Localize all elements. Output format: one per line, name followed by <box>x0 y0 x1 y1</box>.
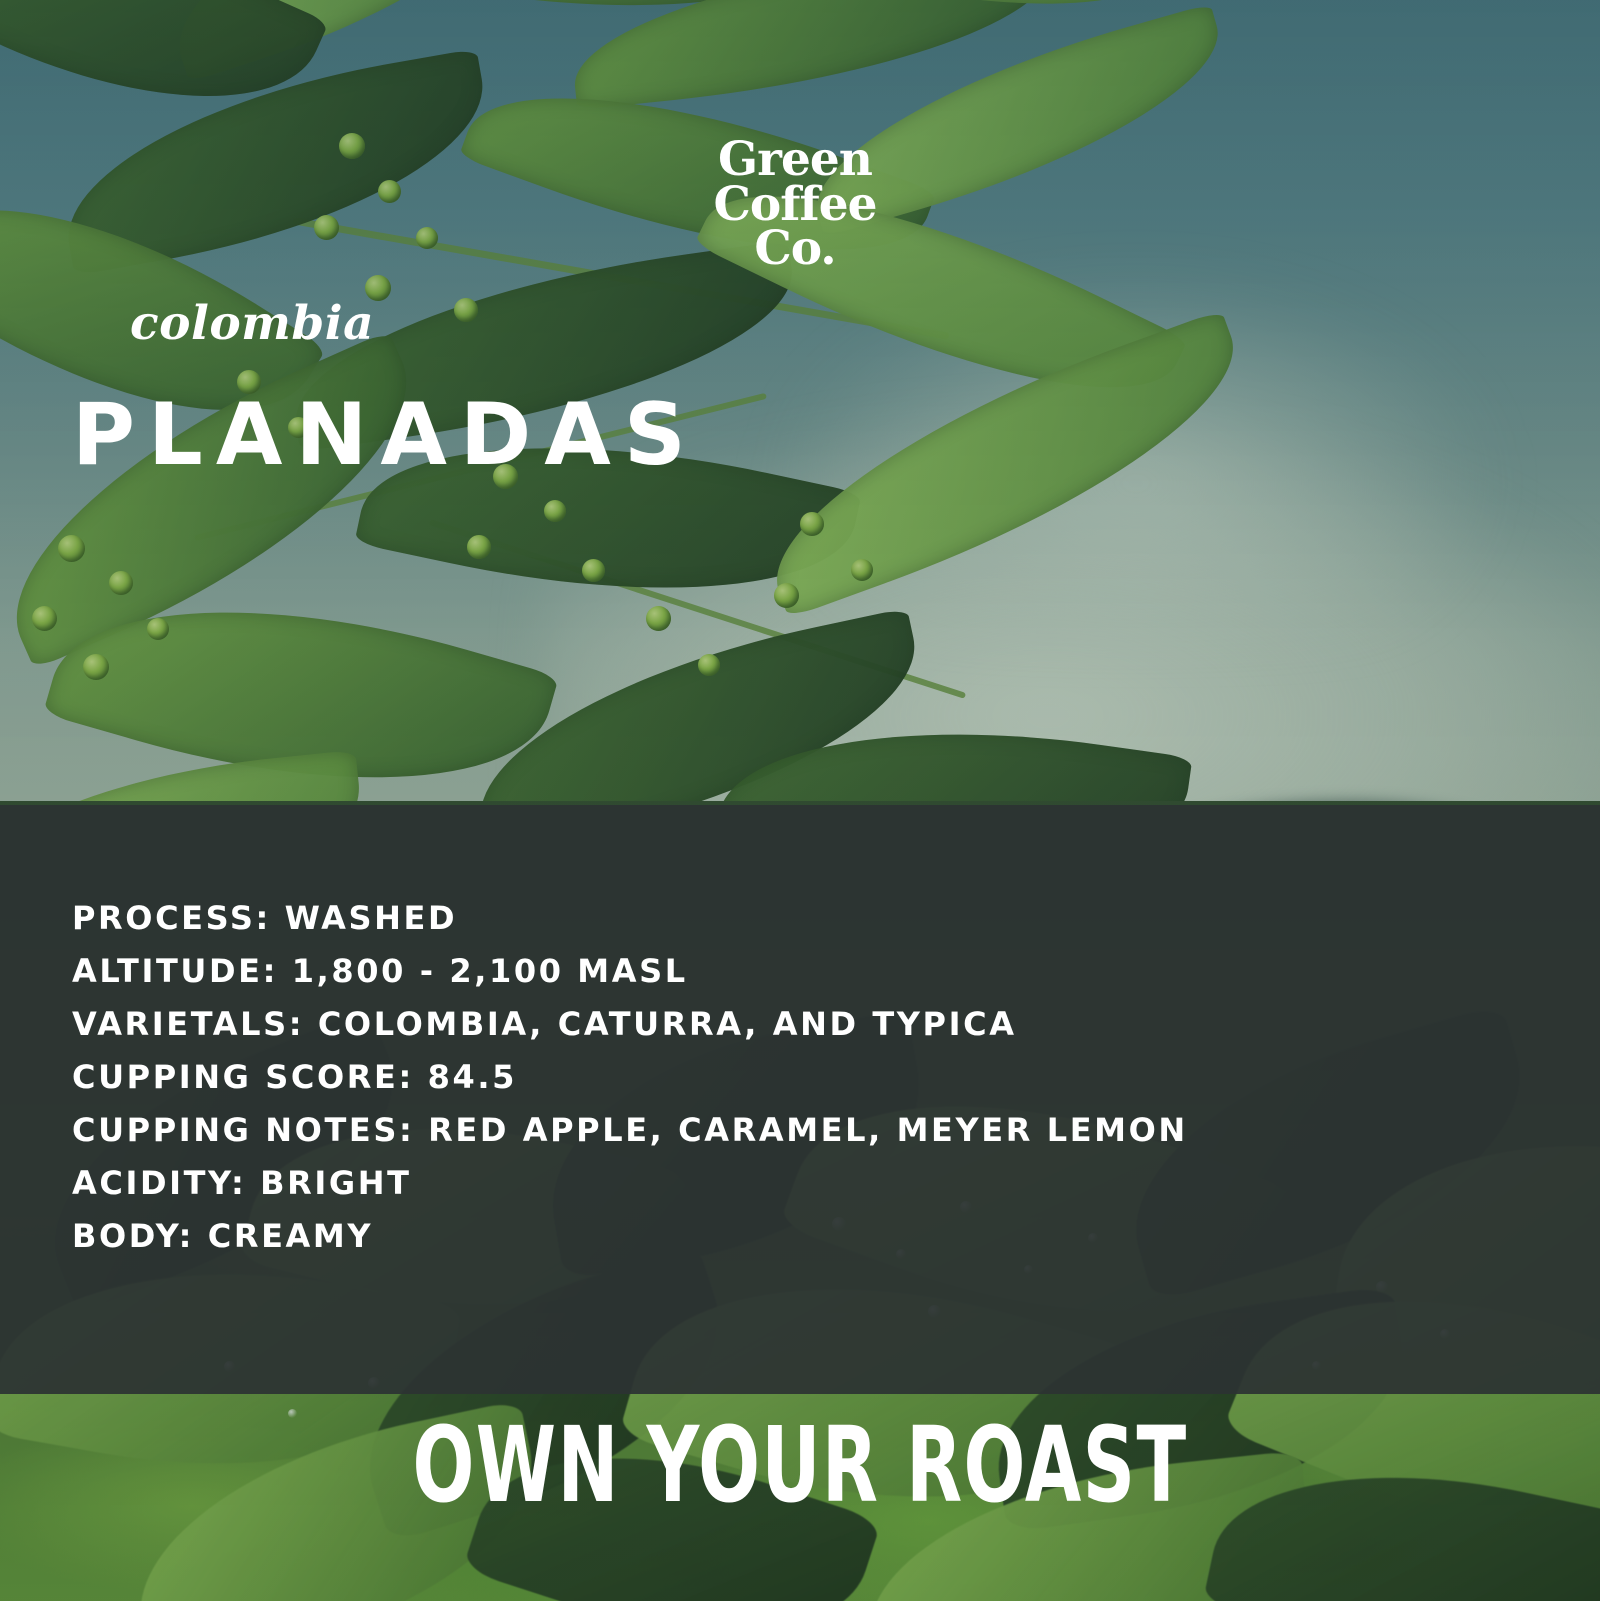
brand-logo: Green Coffee Co. <box>700 138 890 272</box>
spec-row-body: BODY: CREAMY <box>72 1210 1188 1263</box>
content-layer: Green Coffee Co. colombia PLANADAS PROCE… <box>0 0 1600 1601</box>
page-title: PLANADAS <box>72 392 699 478</box>
spec-row-altitude: ALTITUDE: 1,800 - 2,100 MASL <box>72 945 1188 998</box>
brand-logo-line-3: Co. <box>700 227 890 272</box>
spec-list: PROCESS: WASHED ALTITUDE: 1,800 - 2,100 … <box>72 892 1188 1263</box>
footer-tagline: OWN YOUR ROAST <box>240 1413 1360 1517</box>
spec-row-cupping-notes: CUPPING NOTES: RED APPLE, CARAMEL, MEYER… <box>72 1104 1188 1157</box>
origin-country: colombia <box>130 300 374 347</box>
coffee-product-card: Green Coffee Co. colombia PLANADAS PROCE… <box>0 0 1600 1601</box>
spec-row-varietals: VARIETALS: COLOMBIA, CATURRA, AND TYPICA <box>72 998 1188 1051</box>
spec-row-process: PROCESS: WASHED <box>72 892 1188 945</box>
spec-row-cupping-score: CUPPING SCORE: 84.5 <box>72 1051 1188 1104</box>
brand-logo-line-1: Green <box>700 138 890 183</box>
spec-row-acidity: ACIDITY: BRIGHT <box>72 1157 1188 1210</box>
